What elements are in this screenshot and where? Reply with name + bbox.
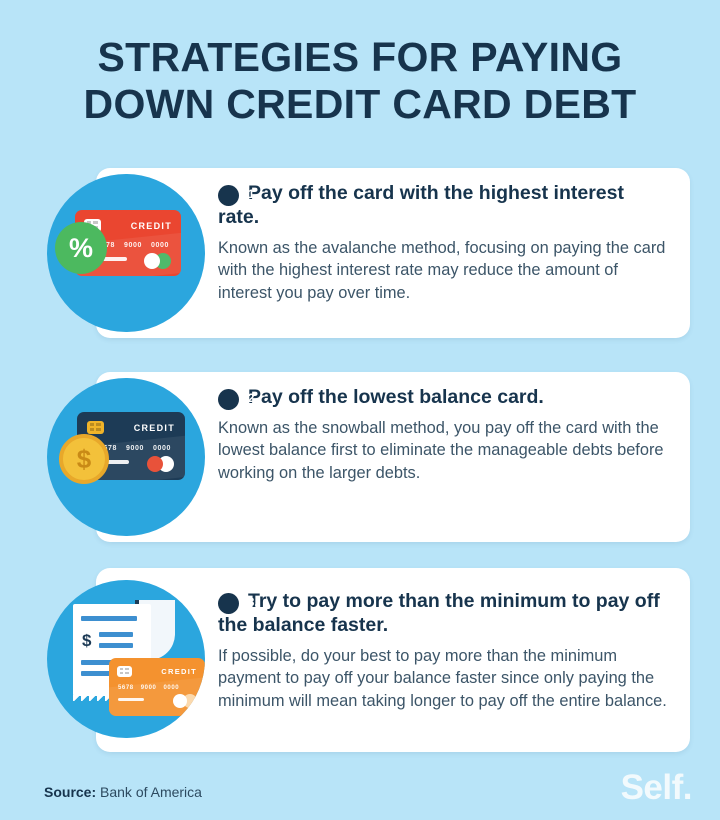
orange-credit-card-icon: CREDIT 5678 9000 0000 bbox=[109, 658, 205, 716]
receipt-line bbox=[99, 632, 133, 637]
illustration-circle-2: CREDIT 5678 9000 0000 $ bbox=[47, 378, 205, 536]
strategy-text-3: 3. Try to pay more than the minimum to p… bbox=[218, 590, 670, 712]
card-brand-label: CREDIT bbox=[161, 667, 197, 676]
card-network-logo-icon bbox=[147, 456, 175, 472]
percent-badge-icon: % bbox=[55, 222, 107, 274]
card-chip-icon bbox=[117, 666, 132, 677]
illustration-circle-3: $ CREDIT 5678 9000 0000 bbox=[47, 580, 205, 738]
strategy-heading-text: Pay off the lowest balance card. bbox=[248, 386, 544, 408]
card-number-part: 5678 bbox=[118, 685, 134, 691]
dollar-coin-icon: $ bbox=[59, 434, 109, 484]
card-number-group: 5678 9000 0000 bbox=[118, 685, 179, 691]
source-label: Source: bbox=[44, 784, 96, 800]
card-brand-label: CREDIT bbox=[134, 423, 175, 433]
strategy-number-badge: 1. bbox=[218, 185, 239, 206]
strategy-item-3: $ CREDIT 5678 9000 0000 3. Try to pay mo… bbox=[0, 568, 720, 752]
card-number-group: 5678 9000 0000 bbox=[97, 242, 169, 249]
card-number-group: 5678 9000 0000 bbox=[99, 445, 171, 452]
card-chip-icon bbox=[87, 421, 104, 434]
strategy-number-badge: 2. bbox=[218, 389, 239, 410]
dollar-sign-icon: $ bbox=[82, 632, 91, 649]
strategy-body: Known as the avalanche method, focusing … bbox=[218, 237, 670, 304]
card-number-part: 0000 bbox=[153, 445, 171, 452]
strategy-text-2: 2. Pay off the lowest balance card. Know… bbox=[218, 386, 670, 484]
card-brand-label: CREDIT bbox=[131, 221, 172, 231]
self-logo: Self. bbox=[621, 768, 692, 808]
card-number-part: 0000 bbox=[164, 685, 180, 691]
source-attribution: Source: Bank of America bbox=[44, 784, 202, 800]
strategy-body: If possible, do your best to pay more th… bbox=[218, 645, 670, 712]
receipt-line bbox=[99, 643, 133, 648]
strategy-number-badge: 3. bbox=[218, 593, 239, 614]
strategy-heading: 1. Pay off the card with the highest int… bbox=[218, 182, 670, 230]
card-number-part: 0000 bbox=[151, 242, 169, 249]
card-network-logo-icon bbox=[144, 253, 172, 269]
card-signature-strip bbox=[118, 698, 144, 701]
receipt-line bbox=[81, 616, 137, 621]
strategy-heading: 3. Try to pay more than the minimum to p… bbox=[218, 590, 670, 638]
strategy-heading-text: Pay off the card with the highest intere… bbox=[218, 182, 624, 228]
strategy-item-1: CREDIT 5678 9000 0000 % 1. Pay off the c… bbox=[0, 168, 720, 338]
illustration-circle-1: CREDIT 5678 9000 0000 % bbox=[47, 174, 205, 332]
page-title: STRATEGIES FOR PAYING DOWN CREDIT CARD D… bbox=[0, 34, 720, 127]
strategy-item-2: CREDIT 5678 9000 0000 $ 2. Pay off the l… bbox=[0, 372, 720, 542]
page-title-line-2: DOWN CREDIT CARD DEBT bbox=[30, 81, 690, 128]
card-number-part: 9000 bbox=[124, 242, 142, 249]
strategy-body: Known as the snowball method, you pay of… bbox=[218, 417, 670, 484]
card-network-logo-icon bbox=[173, 694, 197, 708]
source-value: Bank of America bbox=[100, 784, 202, 800]
card-number-part: 9000 bbox=[141, 685, 157, 691]
strategy-heading-text: Try to pay more than the minimum to pay … bbox=[218, 590, 660, 636]
strategy-text-1: 1. Pay off the card with the highest int… bbox=[218, 182, 670, 304]
strategy-heading: 2. Pay off the lowest balance card. bbox=[218, 386, 670, 410]
page-title-line-1: STRATEGIES FOR PAYING bbox=[30, 34, 690, 81]
card-number-part: 9000 bbox=[126, 445, 144, 452]
